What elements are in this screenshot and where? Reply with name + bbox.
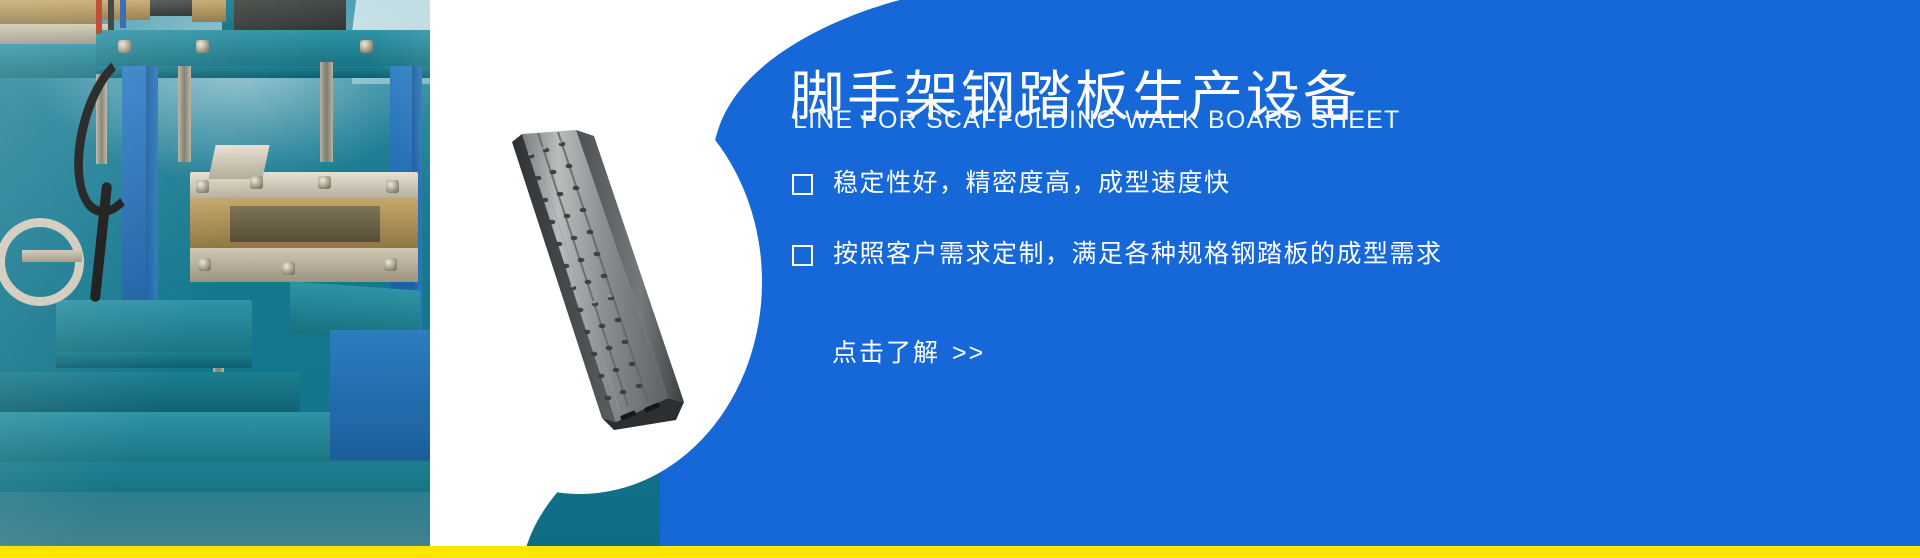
- feature-text: 按照客户需求定制，满足各种规格钢踏板的成型需求: [833, 239, 1443, 269]
- learn-more-label: 点击了解: [832, 339, 940, 367]
- list-item: 稳定性好，精密度高，成型速度快: [792, 168, 1792, 198]
- hero-banner: 脚手架钢踏板生产设备 LINE FOR SCAFFOLDING WALK BOA…: [0, 0, 1920, 558]
- product-plank-image: [498, 130, 708, 430]
- square-outline-icon: [792, 174, 813, 195]
- chevron-right-icon: >>: [952, 339, 985, 367]
- learn-more-link[interactable]: 点击了解>>: [832, 333, 985, 369]
- accent-strip: [0, 546, 1920, 558]
- list-item: 按照客户需求定制，满足各种规格钢踏板的成型需求: [792, 239, 1792, 269]
- square-outline-icon: [792, 245, 813, 266]
- banner-content: 脚手架钢踏板生产设备 LINE FOR SCAFFOLDING WALK BOA…: [790, 0, 1880, 548]
- page-subtitle: LINE FOR SCAFFOLDING WALK BOARD SHEET: [793, 106, 1400, 135]
- feature-text: 稳定性好，精密度高，成型速度快: [833, 168, 1231, 198]
- feature-list: 稳定性好，精密度高，成型速度快 按照客户需求定制，满足各种规格钢踏板的成型需求: [792, 168, 1792, 310]
